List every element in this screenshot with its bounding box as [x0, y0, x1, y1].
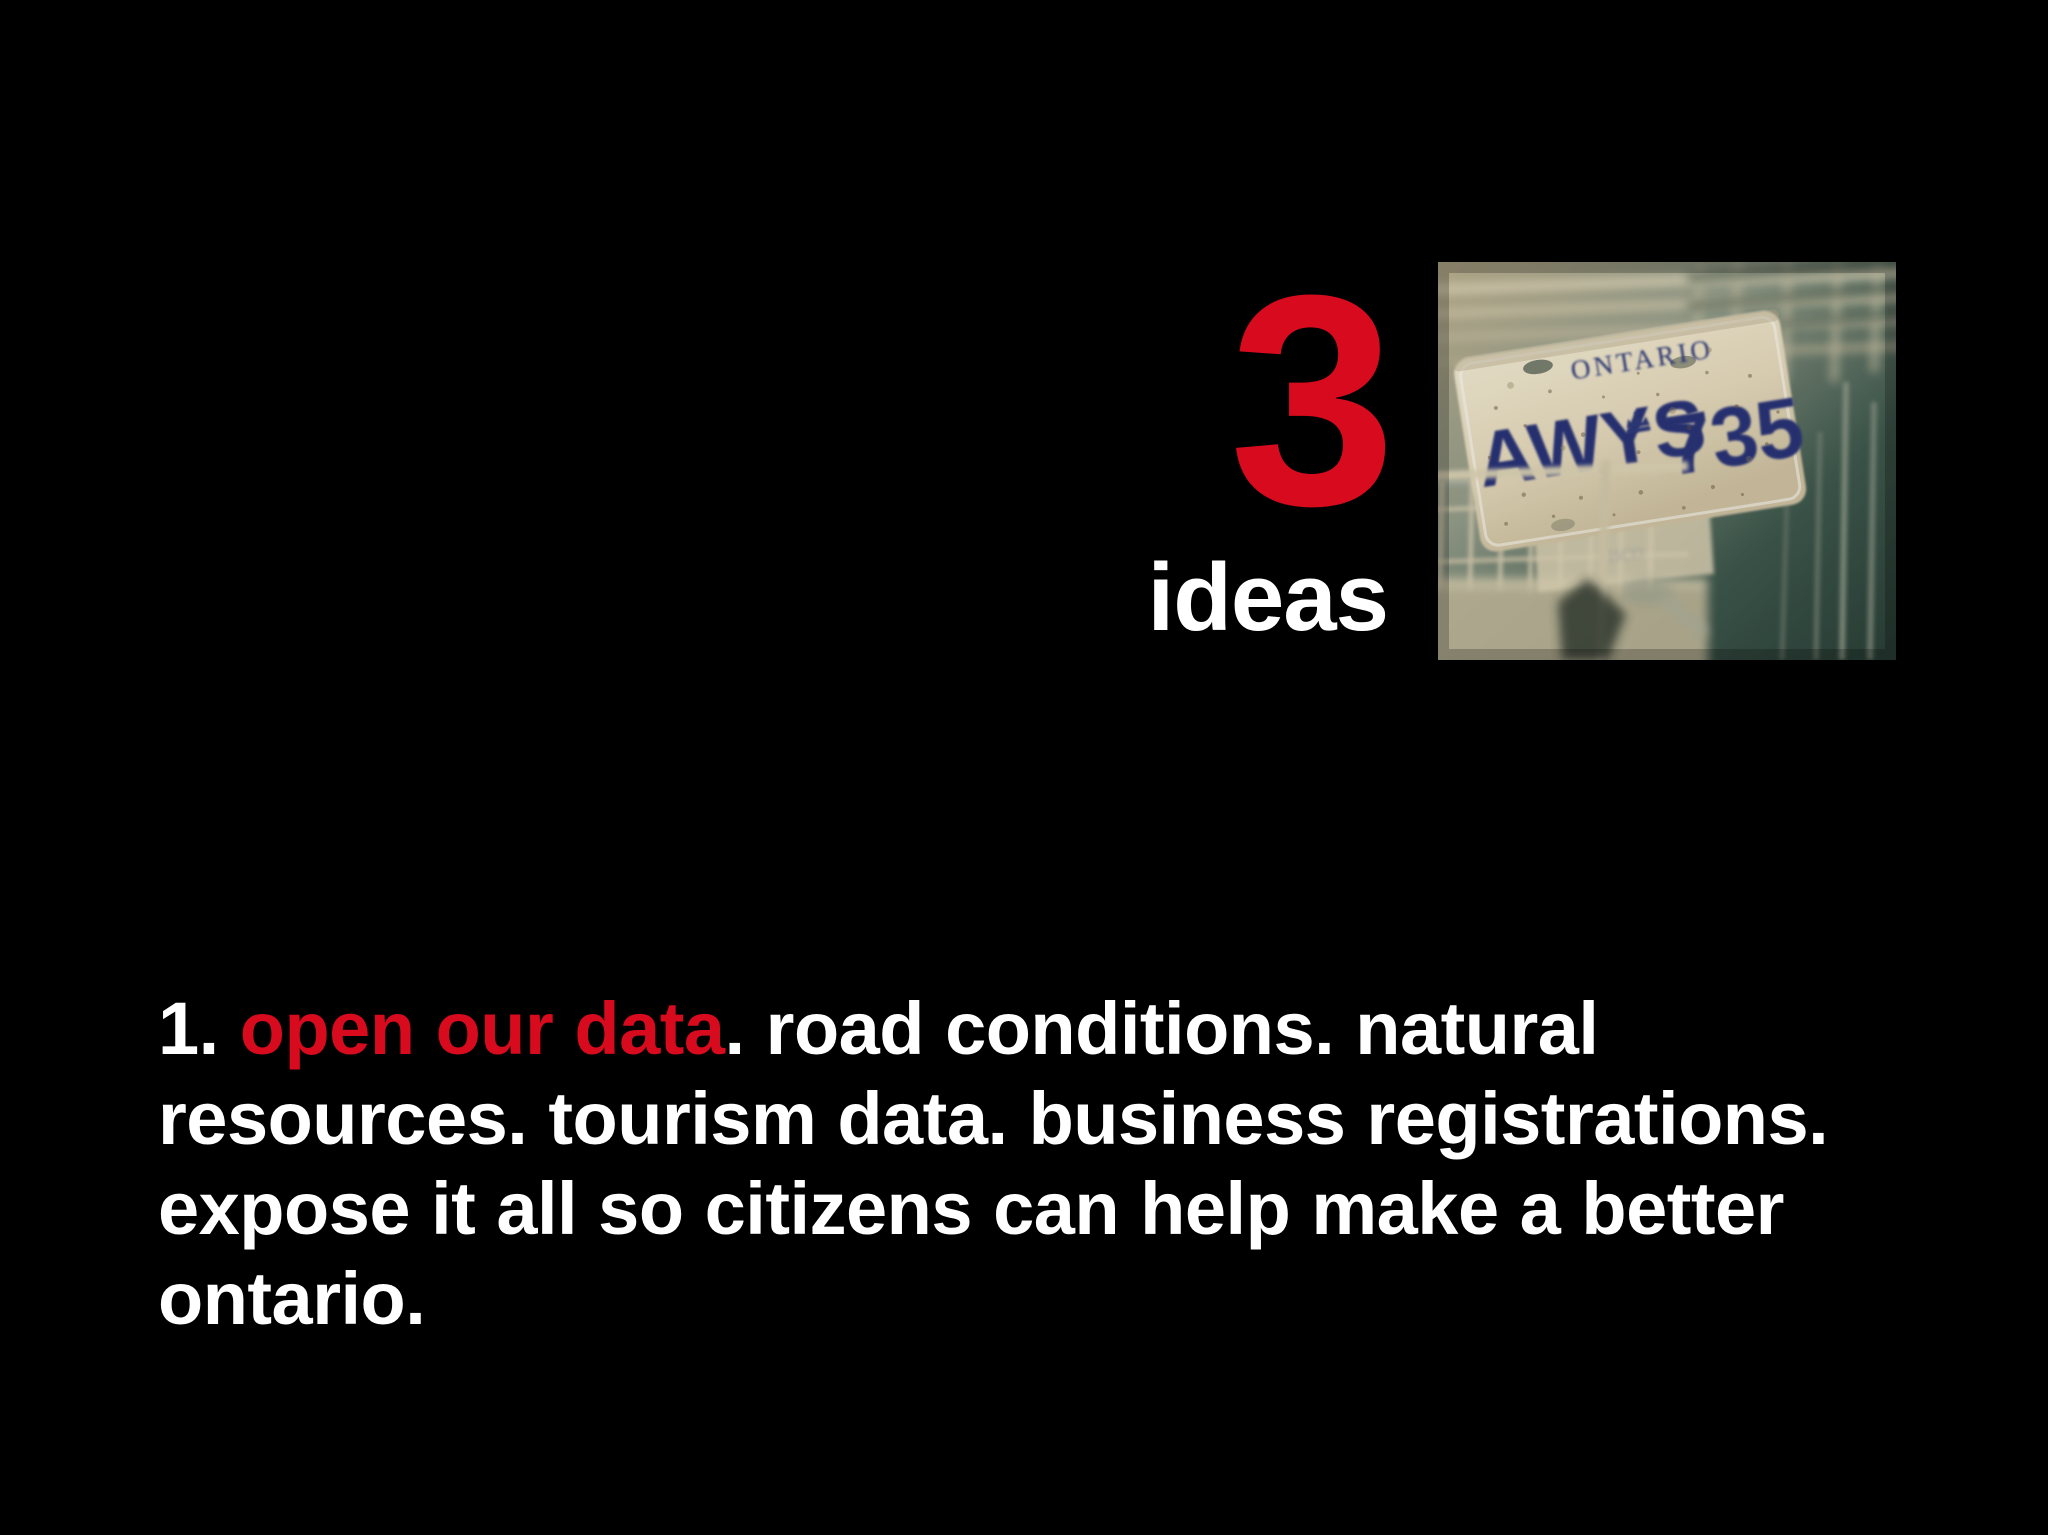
- slide-canvas: 3 ideas: [0, 0, 2048, 1535]
- headline-word: ideas: [1148, 550, 1388, 646]
- headline-number: 3: [1229, 250, 1390, 550]
- license-plate-illustration: O A ISCO ONTARIO: [1438, 262, 1896, 660]
- license-plate-photo: O A ISCO ONTARIO: [1438, 262, 1896, 660]
- headline-block: 3 ideas: [1100, 250, 1400, 670]
- item-number: 1.: [158, 987, 219, 1070]
- accent-phrase: open our data: [240, 987, 725, 1070]
- body-paragraph: 1. open our data. road conditions. natur…: [158, 984, 1898, 1344]
